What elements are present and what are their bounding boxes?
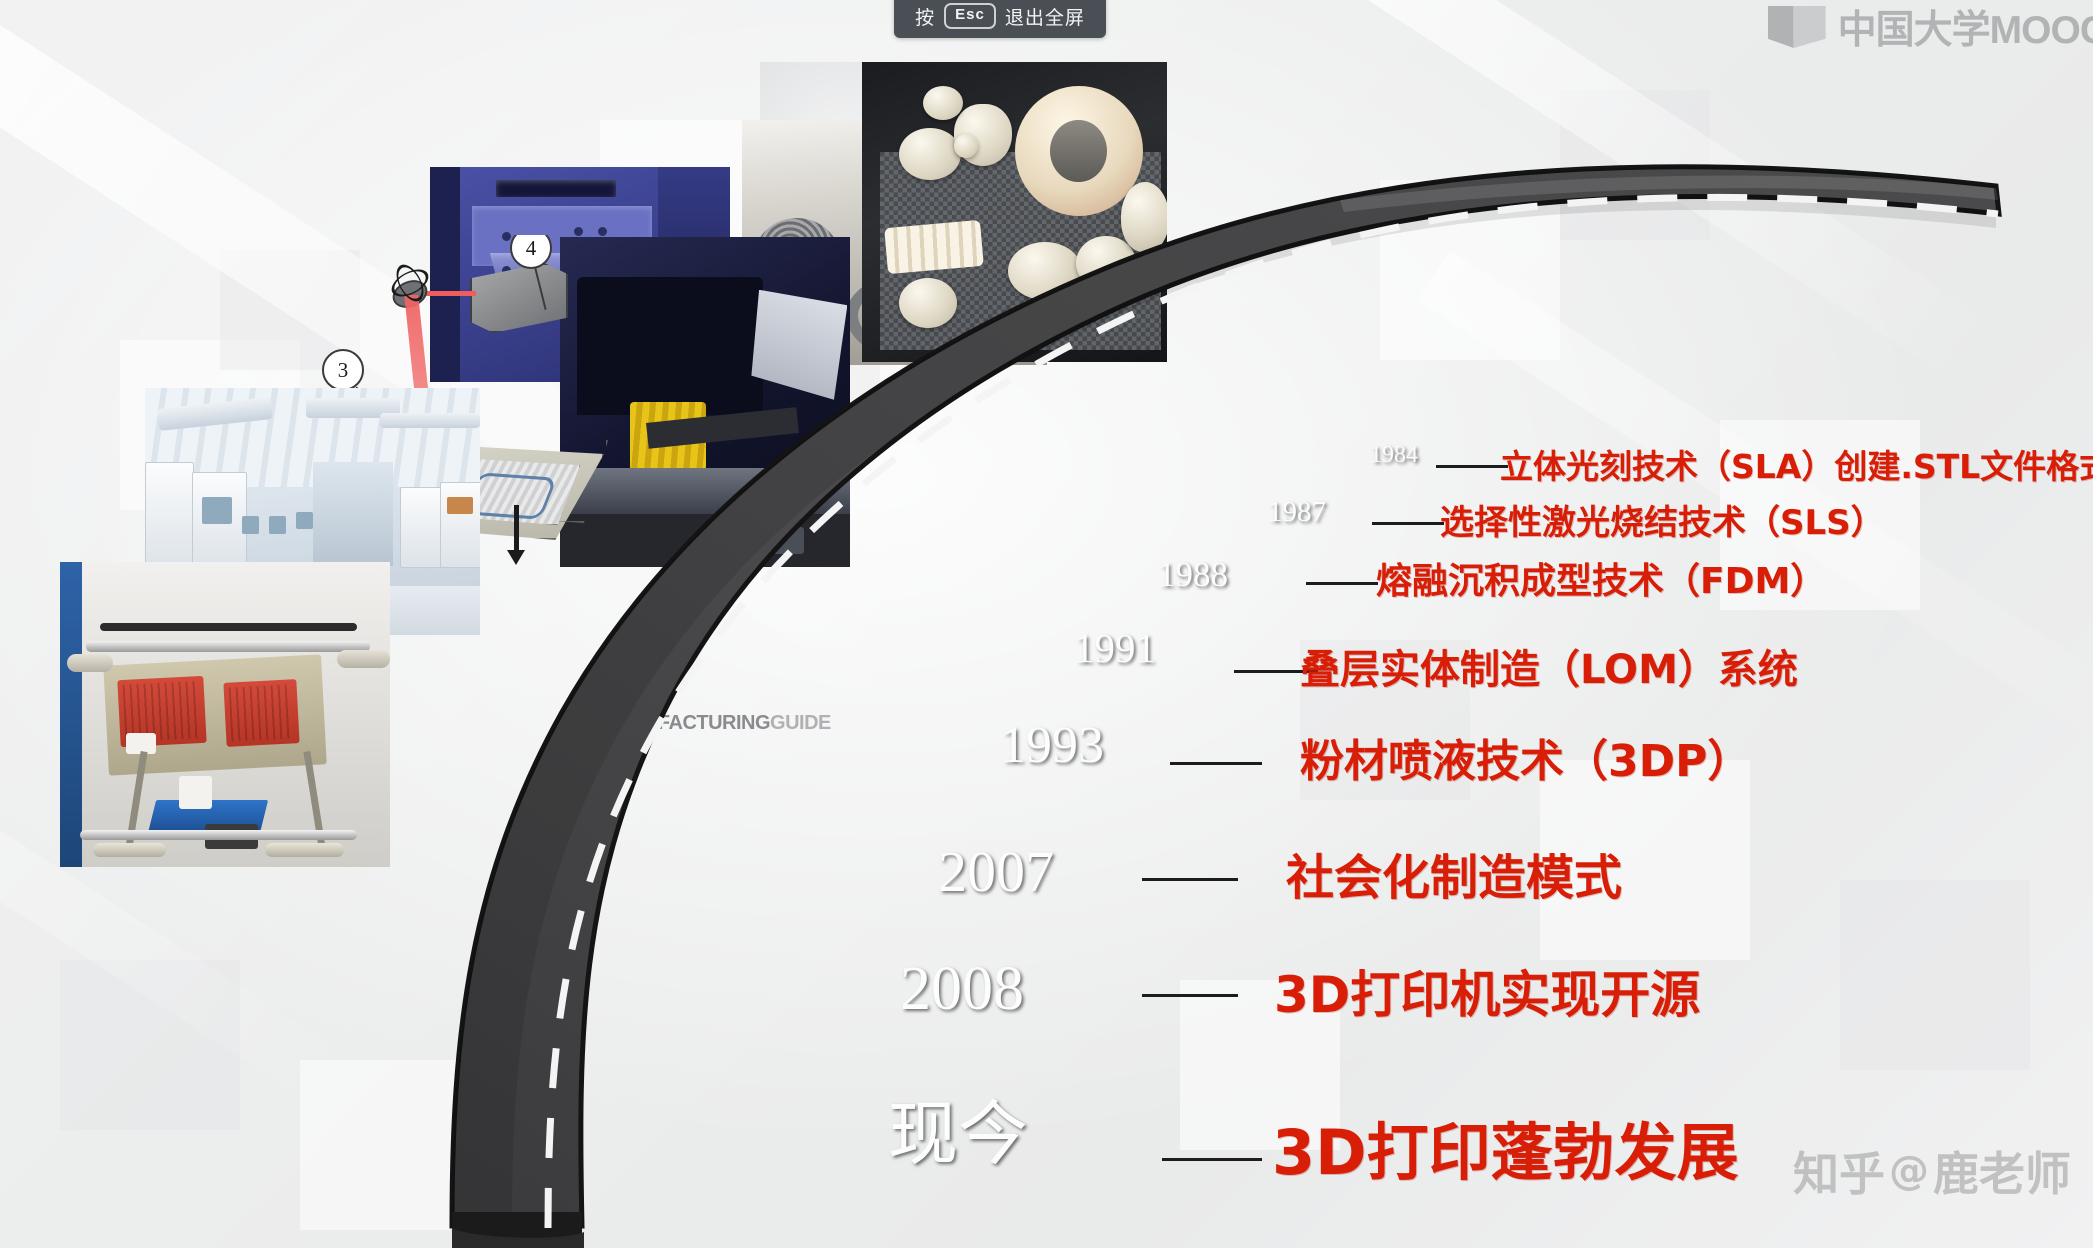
manufacturing-guide-watermark: NUFACTURINGGUIDE: [630, 712, 831, 735]
year-label-2007: 2007: [938, 838, 1054, 905]
watermark-site: 知乎: [1793, 1138, 1885, 1204]
year-label-1993: 1993: [1000, 716, 1104, 775]
leader-line-1988: [1306, 582, 1378, 585]
leader-line-1993: [1170, 762, 1262, 765]
event-label-2007: 社会化制造模式: [1286, 838, 1622, 908]
exit-fullscreen-hint: 按 Esc 退出全屏: [894, 0, 1106, 38]
esc-key-badge: Esc: [944, 3, 996, 29]
event-label-1993: 粉材喷液技术（3DP）: [1300, 725, 1751, 789]
slide-canvas: 3 4: [0, 0, 2093, 1248]
year-label-present: 现今: [888, 1078, 1028, 1179]
event-label-2008: 3D打印机实现开源: [1274, 955, 1700, 1027]
year-label-1987: 1987: [1268, 496, 1326, 529]
mooc-wordmark: 中国大学MOOC: [1838, 0, 2093, 55]
esc-hint-prefix: 按: [915, 3, 935, 30]
leader-line-present: [1162, 1158, 1262, 1161]
year-label-1984: 1984: [1370, 442, 1418, 469]
event-label-1984: 立体光刻技术（SLA）创建.STL文件格式: [1500, 440, 2093, 488]
event-label-1987: 选择性激光烧结技术（SLS）: [1440, 495, 1885, 544]
mooc-logo: 中国大学MOOC: [1768, 4, 2093, 50]
year-label-1991: 1991: [1074, 624, 1156, 672]
rotation-axes-icon: [384, 257, 436, 309]
leader-line-2008: [1142, 994, 1238, 997]
leader-line-1987: [1372, 522, 1444, 525]
year-label-1988: 1988: [1158, 555, 1228, 595]
photo-reprap-printer: [60, 562, 390, 867]
watermark-author: 鹿老师: [1933, 1138, 2071, 1204]
leader-line-1984: [1436, 465, 1508, 468]
event-label-1991: 叠层实体制造（LOM）系统: [1300, 637, 1798, 695]
callout-3: 3: [322, 349, 364, 391]
down-arrow-icon: [514, 505, 519, 551]
mfg-mark-light: GUIDE: [770, 712, 831, 734]
event-label-1988: 熔融沉积成型技术（FDM）: [1376, 552, 1826, 604]
mfg-mark-bold: NUFACTURING: [630, 712, 770, 734]
event-label-present: 3D打印蓬勃发展: [1272, 1102, 1739, 1192]
book-bookmark-icon: [1768, 6, 1826, 48]
photo-nylon-parts-tray: [862, 62, 1167, 362]
watermark-at: @: [1889, 1148, 1929, 1194]
zhihu-watermark: 知乎 @ 鹿老师: [1793, 1138, 2071, 1204]
esc-hint-suffix: 退出全屏: [1005, 3, 1085, 30]
year-label-2008: 2008: [900, 954, 1024, 1025]
laser-source-icon: [470, 263, 568, 333]
leader-line-2007: [1142, 878, 1238, 881]
